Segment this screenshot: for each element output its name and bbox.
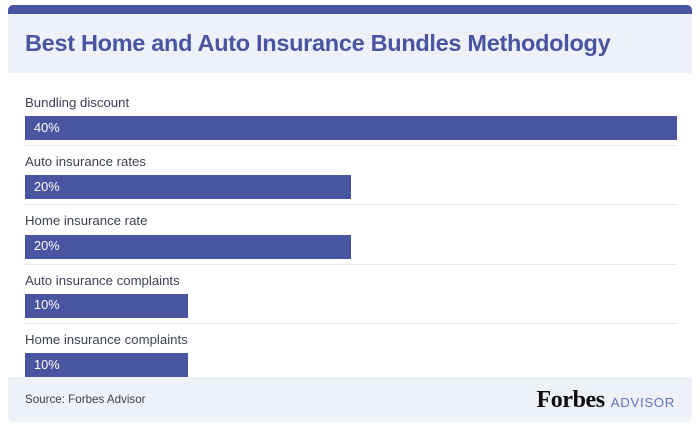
- bar-category-label: Auto insurance rates: [25, 147, 677, 175]
- bar-chart: Bundling discount 40% Auto insurance rat…: [25, 88, 677, 377]
- bar-track: 40%: [25, 116, 677, 140]
- bar-value-label: 20%: [25, 240, 60, 253]
- bar-track: 20%: [25, 175, 677, 199]
- bar-category-label: Home insurance complaints: [25, 325, 677, 353]
- bar-fill: 20%: [25, 235, 351, 259]
- bar-category-label: Auto insurance complaints: [25, 266, 677, 294]
- advisor-wordmark: ADVISOR: [611, 396, 675, 409]
- bar-value-label: 40%: [25, 122, 60, 135]
- bar-fill: 20%: [25, 175, 351, 199]
- bar-value-label: 10%: [25, 359, 60, 372]
- bar-row: Auto insurance complaints 10%: [25, 266, 677, 325]
- forbes-wordmark: Forbes: [536, 388, 604, 412]
- bar-category-label: Home insurance rate: [25, 206, 677, 234]
- bar-category-label: Bundling discount: [25, 88, 677, 116]
- bar-fill: 10%: [25, 353, 188, 377]
- header-accent-bar: [8, 5, 692, 14]
- page-title: Best Home and Auto Insurance Bundles Met…: [25, 32, 610, 56]
- source-note: Source: Forbes Advisor: [25, 394, 146, 406]
- footer: Source: Forbes Advisor Forbes ADVISOR: [8, 377, 692, 422]
- bar-value-label: 20%: [25, 181, 60, 194]
- forbes-advisor-logo: Forbes ADVISOR: [536, 388, 675, 412]
- bar-row: Auto insurance rates 20%: [25, 147, 677, 206]
- header: Best Home and Auto Insurance Bundles Met…: [8, 5, 692, 73]
- bar-track: 10%: [25, 353, 677, 377]
- bar-value-label: 10%: [25, 299, 60, 312]
- bar-row: Bundling discount 40%: [25, 88, 677, 147]
- infographic-card: Best Home and Auto Insurance Bundles Met…: [0, 0, 700, 428]
- header-band: Best Home and Auto Insurance Bundles Met…: [8, 14, 692, 73]
- bar-row: Home insurance rate 20%: [25, 206, 677, 265]
- bar-row: Home insurance complaints 10%: [25, 325, 677, 377]
- bar-fill: 40%: [25, 116, 677, 140]
- bar-track: 10%: [25, 294, 677, 318]
- bar-track: 20%: [25, 235, 677, 259]
- bar-fill: 10%: [25, 294, 188, 318]
